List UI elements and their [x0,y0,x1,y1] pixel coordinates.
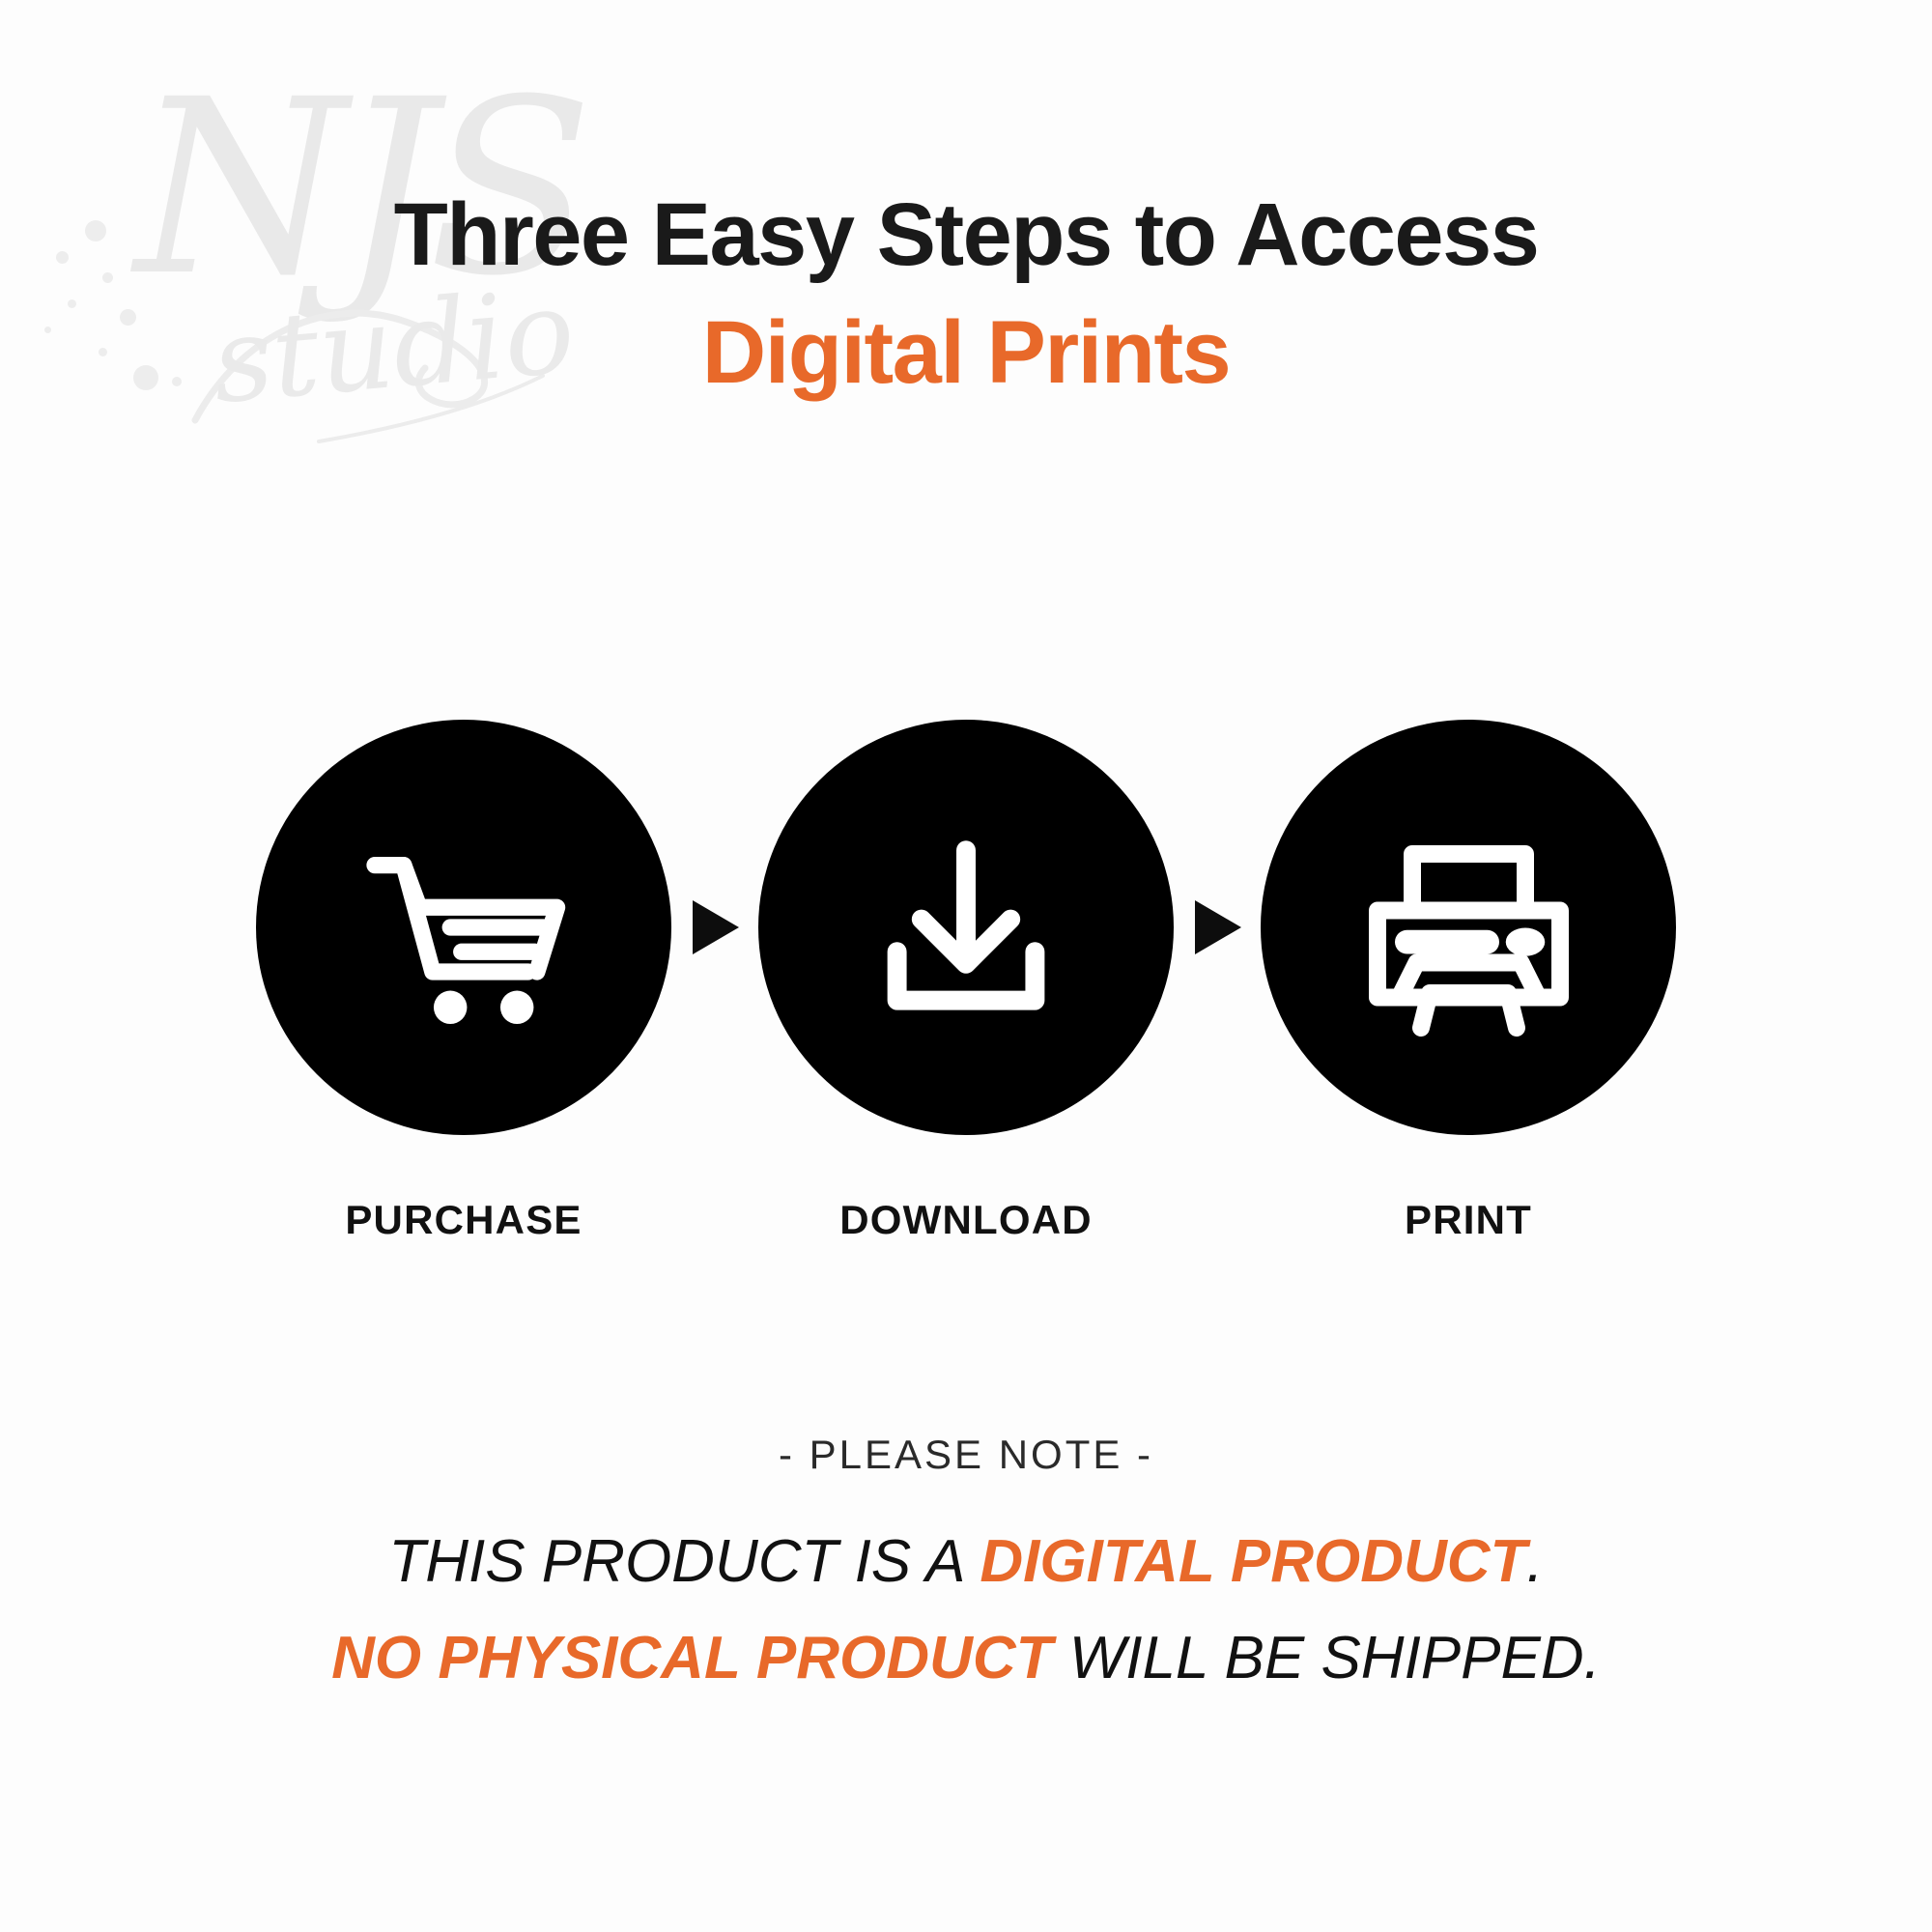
triangle-right-icon [1191,897,1243,957]
step-separator-2 [1174,720,1261,1135]
page-title-line-2: Digital Prints [0,294,1932,412]
disclaimer-line-2-strong: NO PHYSICAL PRODUCT [331,1625,1052,1691]
download-icon [865,826,1067,1029]
shopping-cart-icon [353,816,575,1038]
step-separator-1 [671,720,758,1135]
page-title-line-1: Three Easy Steps to Access [0,176,1932,294]
triangle-right-icon [689,897,741,957]
disclaimer-line-2-suffix: WILL BE SHIPPED. [1052,1625,1600,1691]
step-print-label: PRINT [1405,1197,1532,1243]
step-purchase-label: PURCHASE [345,1197,582,1243]
disclaimer-line-1: THIS PRODUCT IS A DIGITAL PRODUCT. [0,1517,1932,1607]
step-download-circle[interactable] [758,720,1174,1135]
step-print-circle[interactable] [1261,720,1676,1135]
step-purchase[interactable]: PURCHASE [256,720,671,1243]
disclaimer-line-2: NO PHYSICAL PRODUCT WILL BE SHIPPED. [0,1613,1932,1704]
disclaimer-kicker: - PLEASE NOTE - [0,1432,1932,1478]
step-print[interactable]: PRINT [1261,720,1676,1243]
step-purchase-circle[interactable] [256,720,671,1135]
step-download[interactable]: DOWNLOAD [758,720,1174,1243]
steps-row: PURCHASE DOWNLOAD [0,720,1932,1243]
disclaimer-line-1-prefix: THIS PRODUCT IS A [388,1528,980,1595]
printer-icon [1360,819,1577,1037]
poster-canvas: NJS studio Three Easy Steps to Access Di… [0,0,1932,1932]
disclaimer-block: - PLEASE NOTE - THIS PRODUCT IS A DIGITA… [0,1432,1932,1704]
page-title: Three Easy Steps to Access Digital Print… [0,176,1932,412]
step-download-label: DOWNLOAD [839,1197,1093,1243]
disclaimer-line-1-suffix: . [1526,1528,1543,1595]
disclaimer-line-1-strong: DIGITAL PRODUCT [980,1528,1526,1595]
